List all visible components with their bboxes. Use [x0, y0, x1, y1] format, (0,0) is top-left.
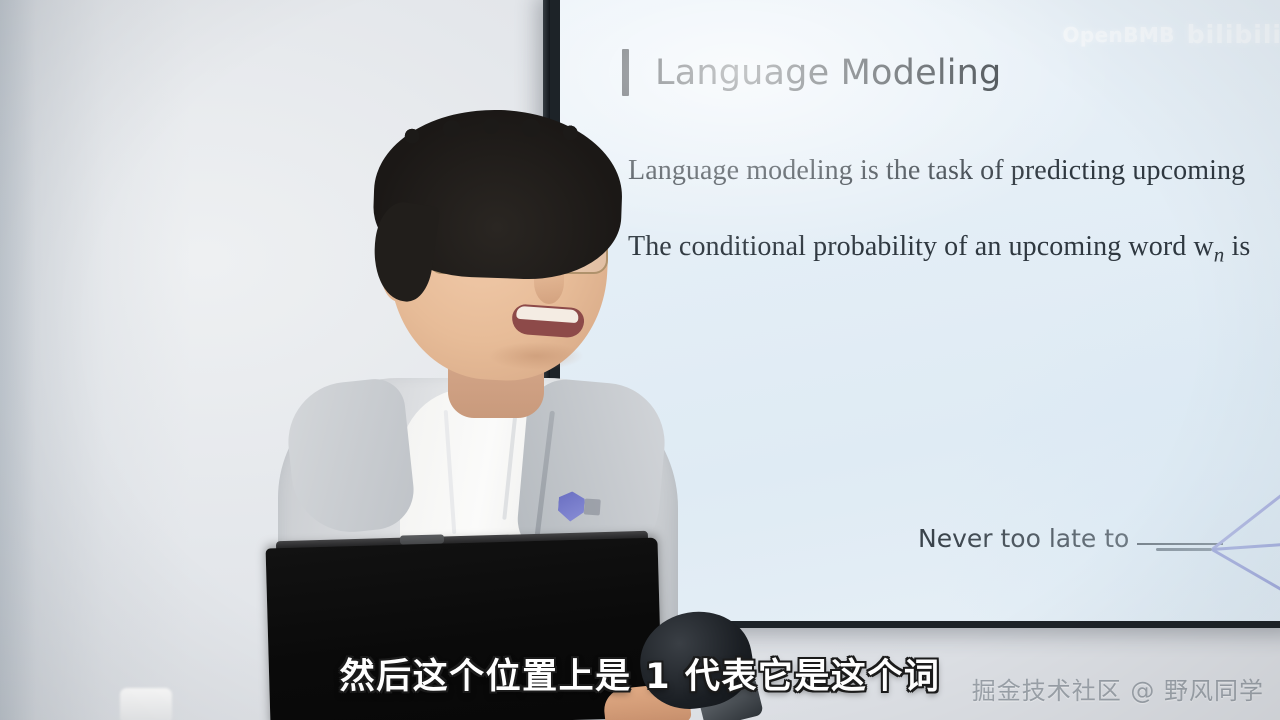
bilibili-logo: bilibili [1187, 20, 1280, 49]
word-subscript: n [1214, 243, 1225, 267]
white-cup [120, 688, 172, 720]
hoodie-chest-logo [557, 491, 599, 530]
speaker-teeth [516, 306, 579, 323]
laptop-screen-back [266, 538, 663, 720]
slide-body-line-2-tail: is [1224, 231, 1250, 262]
title-accent-bar [622, 49, 629, 96]
slide-title: Language Modeling [655, 53, 1001, 93]
slide-watermark: OpenBMB bilibili [1062, 20, 1280, 49]
fan-ray-lower [1211, 548, 1280, 599]
speaker-mouth [511, 304, 585, 339]
speaker-hair-spikes [390, 104, 610, 144]
logo-tag [584, 498, 601, 515]
fan-stem-line [1156, 548, 1212, 551]
wall-seam [0, 0, 36, 720]
slide-body: Language modeling is the task of predict… [628, 155, 1280, 268]
openbmb-logo: OpenBMB [1062, 23, 1174, 47]
slide-example-text: Never too late to [918, 524, 1129, 553]
fan-ray-upper [1211, 492, 1280, 551]
chin-shadow [488, 342, 584, 370]
slide-title-row: Language Modeling [622, 49, 1001, 96]
slide-body-line-1: Language modeling is the task of predict… [628, 155, 1280, 187]
prediction-fan-arrows [1156, 467, 1280, 621]
shield-icon [557, 491, 585, 523]
video-frame: Language Modeling Language modeling is t… [0, 0, 1280, 720]
slide-body-line-2: The conditional probability of an upcomi… [628, 231, 1280, 268]
